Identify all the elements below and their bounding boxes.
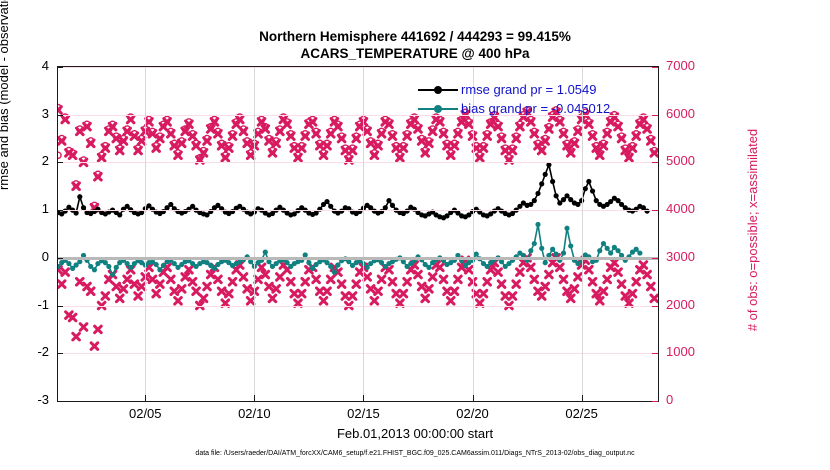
bias-marker — [637, 250, 642, 255]
obs-assimilated-marker — [440, 276, 447, 283]
y-axis-right-tick-mark — [652, 210, 658, 211]
obs-assimilated-marker — [124, 276, 131, 283]
bias-marker — [605, 246, 610, 251]
obs-assimilated-marker — [353, 281, 360, 288]
obs-assimilated-marker — [102, 293, 109, 300]
chart-page: Northern Hemisphere 441692 / 444293 = 99… — [0, 0, 830, 470]
vertical-gridline — [145, 67, 146, 401]
rmse-series — [58, 162, 650, 220]
obs-assimilated-marker — [298, 290, 305, 297]
bias-marker — [634, 247, 639, 252]
obs-assimilated-marker — [604, 276, 611, 283]
bias-marker — [615, 248, 620, 253]
zero-reference-line — [58, 257, 658, 260]
obs-assimilated-marker — [153, 290, 160, 297]
vertical-gridline — [254, 67, 255, 401]
bias-marker — [346, 259, 351, 264]
legend-item: bias grand pr = -0.045012 — [418, 99, 610, 118]
obs-assimilated-marker — [367, 286, 374, 293]
obs-assimilated-marker — [62, 269, 69, 276]
obs-assimilated-marker — [528, 264, 535, 271]
bias-marker — [601, 241, 606, 246]
obs-assimilated-marker — [168, 276, 175, 283]
obs-assimilated-marker — [244, 286, 251, 293]
obs-assimilated-marker — [564, 288, 571, 295]
rmse-marker — [554, 193, 559, 198]
x-axis-tick-mark — [254, 395, 255, 401]
y-axis-left-tick-mark — [57, 67, 63, 68]
bias-marker — [172, 261, 177, 266]
obs-assimilated-marker — [644, 271, 651, 278]
bias-marker — [212, 266, 217, 271]
rmse-marker — [535, 191, 540, 196]
y-axis-left-tick-label: 0 — [0, 249, 49, 264]
y-axis-left-tick-label: 4 — [0, 58, 49, 73]
y-axis-right-tick-label: 6000 — [666, 106, 736, 121]
bias-marker — [125, 261, 130, 266]
y-axis-right-tick-mark — [652, 162, 658, 163]
bias-marker — [608, 250, 613, 255]
y-axis-left-tick-label: 3 — [0, 106, 49, 121]
bias-marker — [550, 247, 555, 252]
bias-marker — [532, 241, 537, 246]
obs-low-series — [58, 255, 658, 350]
obs-assimilated-marker — [215, 276, 222, 283]
bias-marker — [154, 262, 159, 267]
bias-marker — [103, 260, 108, 265]
legend-symbol — [418, 102, 458, 116]
y-axis-right-tick-label: 4000 — [666, 201, 736, 216]
obs-assimilated-marker — [327, 276, 334, 283]
rmse-marker — [390, 203, 395, 208]
horizontal-gridline — [58, 353, 658, 354]
obs-assimilated-marker — [629, 290, 636, 297]
y-axis-right-tick-label: 3000 — [666, 249, 736, 264]
obs-assimilated-marker — [444, 288, 451, 295]
obs-assimilated-marker — [313, 276, 320, 283]
chart-title-line1: Northern Hemisphere 441692 / 444293 = 99… — [0, 29, 830, 44]
bias-marker — [110, 272, 115, 277]
obs-assimilated-marker — [648, 283, 655, 290]
obs-assimilated-marker — [186, 266, 193, 273]
rmse-marker — [74, 210, 79, 215]
obs-assimilated-marker — [120, 286, 127, 293]
y-axis-left-tick-label: -2 — [0, 344, 49, 359]
rmse-marker — [168, 202, 173, 207]
x-axis-tick-mark — [145, 395, 146, 401]
obs-assimilated-marker — [338, 281, 345, 288]
rmse-marker — [615, 198, 620, 203]
bias-marker — [535, 222, 540, 227]
obs-assimilated-marker — [116, 295, 123, 302]
rmse-marker — [532, 198, 537, 203]
obs-assimilated-marker — [571, 286, 578, 293]
obs-assimilated-marker — [113, 283, 120, 290]
y-axis-right-tick-label: 0 — [666, 392, 736, 407]
x-axis-tick-mark — [582, 395, 583, 401]
bias-marker — [306, 260, 311, 265]
y-axis-left-tick-mark — [57, 162, 63, 163]
obs-assimilated-marker — [615, 269, 622, 276]
obs-assimilated-marker — [317, 288, 324, 295]
bias-marker — [106, 264, 111, 269]
obs-assimilated-marker — [484, 278, 491, 285]
horizontal-gridline — [58, 67, 658, 68]
rmse-marker — [328, 204, 333, 209]
y-axis-right-tick-mark — [652, 401, 658, 402]
obs-assimilated-marker — [404, 278, 411, 285]
obs-assimilated-marker — [255, 276, 262, 283]
obs-assimilated-marker — [171, 288, 178, 295]
obs-assimilated-marker — [546, 271, 553, 278]
obs-assimilated-marker — [557, 264, 564, 271]
obs-possible-marker — [58, 152, 61, 158]
bias-marker — [561, 250, 566, 255]
rmse-marker — [77, 194, 82, 199]
obs-assimilated-marker — [618, 281, 625, 288]
rmse-marker — [539, 181, 544, 186]
y-axis-right-tick-label: 1000 — [666, 344, 736, 359]
obs-assimilated-marker — [218, 288, 225, 295]
bias-marker — [564, 226, 569, 231]
obs-assimilated-marker — [349, 293, 356, 300]
bias-marker — [161, 263, 166, 268]
rmse-marker — [550, 179, 555, 184]
obs-assimilated-marker — [593, 290, 600, 297]
bias-marker — [365, 265, 370, 270]
bias-marker — [568, 243, 573, 248]
bias-marker — [284, 260, 289, 265]
obs-assimilated-marker — [589, 278, 596, 285]
data-file-footer: data file: /Users/raeder/DAI/ATM_forcXX/… — [0, 450, 830, 457]
obs-assimilated-marker — [175, 298, 182, 305]
y-axis-left-tick-mark — [57, 115, 63, 116]
obs-assimilated-marker — [342, 293, 349, 300]
bias-marker — [328, 264, 333, 269]
obs-assimilated-marker — [240, 274, 247, 281]
obs-assimilated-marker — [575, 274, 582, 281]
obs-assimilated-marker — [531, 276, 538, 283]
bias-marker — [335, 262, 340, 267]
rmse-marker — [594, 198, 599, 203]
rmse-marker — [314, 210, 319, 215]
rmse-marker — [543, 172, 548, 177]
obs-assimilated-marker — [415, 271, 422, 278]
obs-assimilated-marker — [138, 283, 145, 290]
rmse-marker — [386, 198, 391, 203]
rmse-marker — [586, 179, 591, 184]
x-axis-tick-label: 02/05 — [105, 406, 185, 421]
obs-assimilated-marker — [273, 286, 280, 293]
y-axis-left-tick-label: 1 — [0, 201, 49, 216]
obs-assimilated-marker — [204, 283, 211, 290]
obs-assimilated-marker — [291, 290, 298, 297]
obs-assimilated-marker — [498, 281, 505, 288]
obs-assimilated-marker — [378, 276, 385, 283]
obs-assimilated-marker — [77, 278, 84, 285]
x-axis-tick-label: 02/15 — [323, 406, 403, 421]
obs-assimilated-marker — [622, 293, 629, 300]
y-axis-left-tick-mark — [57, 258, 63, 259]
x-axis-tick-label: 02/20 — [433, 406, 513, 421]
obs-assimilated-marker — [480, 290, 487, 297]
obs-assimilated-marker — [302, 278, 309, 285]
vertical-gridline — [363, 67, 364, 401]
bias-marker — [266, 259, 271, 264]
obs-assimilated-marker — [651, 295, 658, 302]
obs-assimilated-marker — [418, 283, 425, 290]
bias-marker — [332, 270, 337, 275]
obs-assimilated-marker — [288, 278, 295, 285]
obs-assimilated-marker — [586, 266, 593, 273]
obs-assimilated-marker — [95, 326, 102, 333]
legend-symbol — [418, 83, 458, 97]
obs-assimilated-marker — [131, 281, 138, 288]
obs-assimilated-marker — [157, 281, 164, 288]
bias-marker — [92, 267, 97, 272]
obs-assimilated-marker — [320, 298, 327, 305]
obs-assimilated-marker — [567, 295, 574, 302]
y-axis-right-tick-mark — [652, 258, 658, 259]
rmse-marker — [190, 204, 195, 209]
y-axis-right-tick-mark — [652, 115, 658, 116]
obs-assimilated-marker — [324, 288, 331, 295]
rmse-marker — [528, 202, 533, 207]
bias-marker — [401, 259, 406, 264]
rmse-marker — [583, 186, 588, 191]
y-axis-right-tick-label: 7000 — [666, 58, 736, 73]
horizontal-gridline — [58, 210, 658, 211]
y-axis-left-tick-label: -3 — [0, 392, 49, 407]
legend-label: rmse grand pr = 1.0549 — [461, 82, 597, 97]
bias-marker — [379, 260, 384, 265]
obs-assimilated-marker — [400, 290, 407, 297]
obs-assimilated-marker — [247, 298, 254, 305]
bias-marker — [66, 261, 71, 266]
bias-marker — [114, 265, 119, 270]
rmse-marker — [564, 193, 569, 198]
obs-assimilated-marker — [375, 288, 382, 295]
y-axis-left-tick-label: 2 — [0, 153, 49, 168]
obs-assimilated-marker — [266, 283, 273, 290]
bias-marker — [324, 260, 329, 265]
rmse-marker — [324, 199, 329, 204]
y-axis-left-tick-mark — [57, 353, 63, 354]
bias-marker — [128, 265, 133, 270]
bias-marker — [485, 264, 490, 269]
bias-marker — [157, 267, 162, 272]
obs-assimilated-marker — [473, 290, 480, 297]
obs-assimilated-marker — [513, 281, 520, 288]
obs-assimilated-marker — [455, 276, 462, 283]
obs-assimilated-marker — [426, 286, 433, 293]
obs-assimilated-marker — [447, 298, 454, 305]
obs-assimilated-marker — [633, 278, 640, 285]
x-axis-tick-label: 02/10 — [214, 406, 294, 421]
obs-assimilated-marker — [149, 276, 156, 283]
chart-legend: rmse grand pr = 1.0549bias grand pr = -0… — [418, 80, 610, 118]
y-axis-left-tick-label: -1 — [0, 297, 49, 312]
legend-dot — [434, 105, 442, 113]
obs-assimilated-marker — [200, 295, 207, 302]
y-axis-left-tick-mark — [57, 210, 63, 211]
obs-assimilated-marker — [596, 298, 603, 305]
horizontal-gridline — [58, 306, 658, 307]
bias-marker — [539, 246, 544, 251]
obs-assimilated-marker — [495, 269, 502, 276]
rmse-marker — [590, 188, 595, 193]
legend-item: rmse grand pr = 1.0549 — [418, 80, 610, 99]
obs-assimilated-marker — [389, 278, 396, 285]
y-axis-right-tick-label: 5000 — [666, 153, 736, 168]
obs-assimilated-marker — [58, 281, 65, 288]
bias-marker — [543, 260, 548, 265]
obs-assimilated-marker — [451, 288, 458, 295]
x-axis-tick-label: 02/25 — [542, 406, 622, 421]
y-axis-right-tick-label: 2000 — [666, 297, 736, 312]
obs-assimilated-marker — [502, 293, 509, 300]
obs-assimilated-marker — [393, 290, 400, 297]
bias-marker — [248, 259, 253, 264]
obs-assimilated-marker — [229, 278, 236, 285]
x-axis-label: Feb.01,2013 00:00:00 start — [0, 426, 830, 441]
obs-assimilated-marker — [600, 288, 607, 295]
obs-assimilated-marker — [193, 288, 200, 295]
obs-assimilated-marker — [91, 343, 98, 350]
obs-assimilated-marker — [269, 295, 276, 302]
obs-assimilated-marker — [226, 290, 233, 297]
obs-assimilated-marker — [182, 274, 189, 281]
obs-assimilated-marker — [189, 278, 196, 285]
bias-marker — [528, 248, 533, 253]
y-axis-left-tick-mark — [57, 306, 63, 307]
obs-assimilated-marker — [135, 293, 142, 300]
obs-assimilated-marker — [80, 324, 87, 331]
x-axis-tick-mark — [363, 395, 364, 401]
obs-assimilated-marker — [277, 274, 284, 281]
y-axis-right-tick-mark — [652, 353, 658, 354]
horizontal-gridline — [58, 162, 658, 163]
obs-assimilated-marker — [364, 274, 371, 281]
y-axis-right-label: # of obs: o=possible; x=assimilated — [745, 70, 760, 390]
y-axis-right-tick-mark — [652, 306, 658, 307]
obs-assimilated-marker — [542, 283, 549, 290]
bias-marker — [263, 250, 268, 255]
bias-marker — [597, 248, 602, 253]
obs-assimilated-marker — [560, 276, 567, 283]
obs-assimilated-marker — [178, 286, 185, 293]
obs-assimilated-marker — [207, 271, 214, 278]
bias-marker — [310, 266, 315, 271]
obs-assimilated-marker — [509, 293, 516, 300]
obs-assimilated-marker — [258, 264, 265, 271]
obs-assimilated-marker — [262, 271, 269, 278]
obs-assimilated-marker — [73, 333, 80, 340]
bias-marker — [499, 259, 504, 264]
rmse-marker — [561, 197, 566, 202]
x-axis-tick-mark — [473, 395, 474, 401]
obs-assimilated-marker — [429, 274, 436, 281]
legend-dot — [434, 86, 442, 94]
obs-assimilated-marker — [517, 269, 524, 276]
rmse-marker — [575, 202, 580, 207]
legend-label: bias grand pr = -0.045012 — [461, 101, 610, 116]
y-axis-right-tick-mark — [652, 67, 658, 68]
bias-marker — [77, 259, 82, 264]
bias-marker — [426, 265, 431, 270]
y-axis-left-tick-mark — [57, 401, 63, 402]
obs-assimilated-marker — [371, 298, 378, 305]
obs-assimilated-marker — [422, 295, 429, 302]
rmse-marker — [117, 212, 122, 217]
